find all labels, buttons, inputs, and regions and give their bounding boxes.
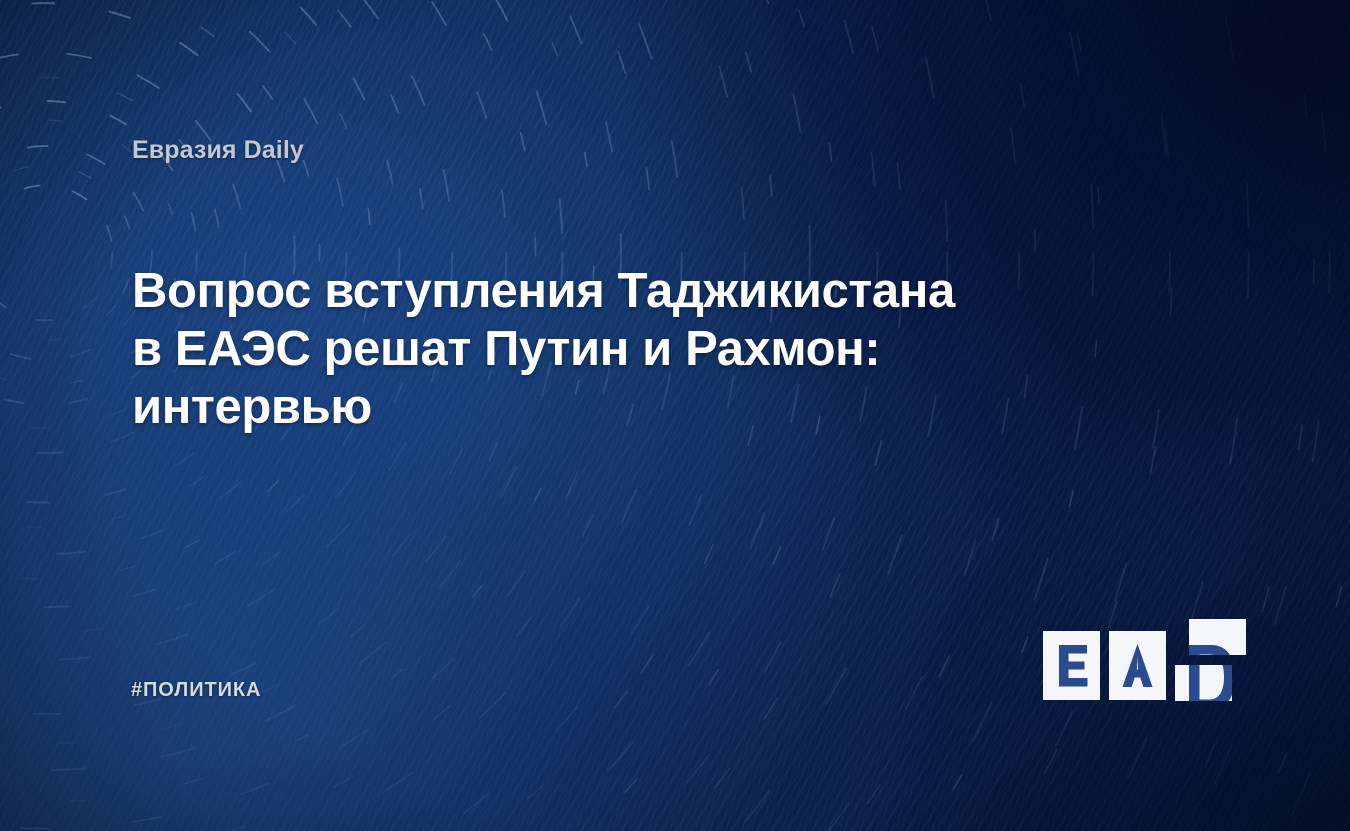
logo-d-upper-half — [1189, 619, 1246, 655]
eadaily-logo[interactable] — [1043, 631, 1233, 701]
logo-d-lower-half — [1175, 665, 1232, 701]
logo-tile-a — [1109, 631, 1166, 700]
headline-line-3: интервью — [132, 378, 1112, 436]
logo-tile-d-split — [1175, 631, 1232, 700]
card-content: Евразия Daily Вопрос вступления Таджикис… — [0, 0, 1350, 831]
page-title: Вопрос вступления Таджикистана в ЕАЭС ре… — [132, 262, 1112, 436]
headline-line-1: Вопрос вступления Таджикистана — [132, 262, 1112, 320]
social-share-card: Евразия Daily Вопрос вступления Таджикис… — [0, 0, 1350, 831]
headline-line-2: в ЕАЭС решат Путин и Рахмон: — [132, 320, 1112, 378]
category-hashtag[interactable]: #ПОЛИТИКА — [131, 679, 261, 702]
logo-tile-e — [1043, 631, 1100, 700]
brand-title: Евразия Daily — [132, 136, 304, 165]
